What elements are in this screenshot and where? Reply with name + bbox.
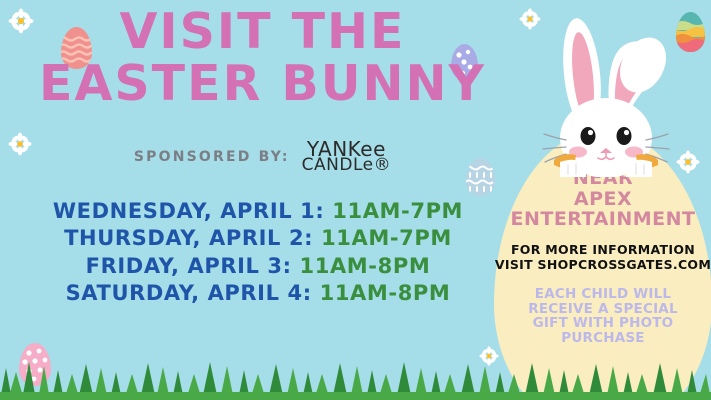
title-line-1: VISIT THE [0, 8, 525, 56]
location-line-2: APEX [494, 189, 711, 210]
schedule-time: 11AM-8PM [300, 254, 431, 278]
gift-line-3: GIFT WITH PHOTO [494, 316, 711, 331]
schedule-time: 11AM-7PM [321, 226, 452, 250]
rainbow-striped-egg [676, 12, 705, 52]
schedule-date: SATURDAY, APRIL 4: [66, 281, 312, 305]
bunny-paw-left [560, 160, 586, 177]
easter-bunny-poster: VISIT THE EASTER BUNNY SPONSORED BY: YAN… [0, 0, 711, 400]
schedule-time: 11AM-7PM [332, 199, 463, 223]
gift-line-4: PURCHASE [494, 331, 711, 346]
title-line-2: EASTER BUNNY [0, 60, 525, 108]
schedule-row: SATURDAY, APRIL 4: 11AM-8PM [8, 280, 508, 307]
schedule-date: FRIDAY, APRIL 3: [86, 254, 292, 278]
schedule-row: FRIDAY, APRIL 3: 11AM-8PM [8, 253, 508, 280]
schedule-row: THURSDAY, APRIL 2: 11AM-7PM [8, 225, 508, 252]
gift-line-2: RECEIVE A SPECIAL [494, 302, 711, 317]
bunny-paw-right [626, 160, 652, 177]
schedule-row: WEDNESDAY, APRIL 1: 11AM-7PM [8, 198, 508, 225]
grass-band [0, 354, 711, 400]
info-line-1: FOR MORE INFORMATION [494, 230, 711, 258]
sponsored-by-label: SPONSORED BY: [134, 149, 290, 165]
schedule-date: WEDNESDAY, APRIL 1: [53, 199, 324, 223]
schedule-time: 11AM-8PM [320, 281, 451, 305]
easter-bunny-illustration [540, 12, 680, 177]
yankee-candle-logo: YANKee CANDLe® [302, 140, 391, 174]
rainbow-striped-egg-pattern [676, 12, 705, 52]
yankee-candle-logo-line2: CANDLe® [302, 158, 391, 174]
location-line-3: ENTERTAINMENT [494, 209, 711, 230]
schedule-date: THURSDAY, APRIL 2: [64, 226, 313, 250]
poster-title: VISIT THE EASTER BUNNY [0, 8, 525, 108]
sponsor-row: SPONSORED BY: YANKee CANDLe® [0, 140, 525, 174]
info-line-2: VISIT SHOPCROSSGATES.COM [494, 257, 711, 273]
schedule-list: WEDNESDAY, APRIL 1: 11AM-7PM THURSDAY, A… [8, 198, 508, 307]
gift-line-1: EACH CHILD WILL [494, 273, 711, 302]
